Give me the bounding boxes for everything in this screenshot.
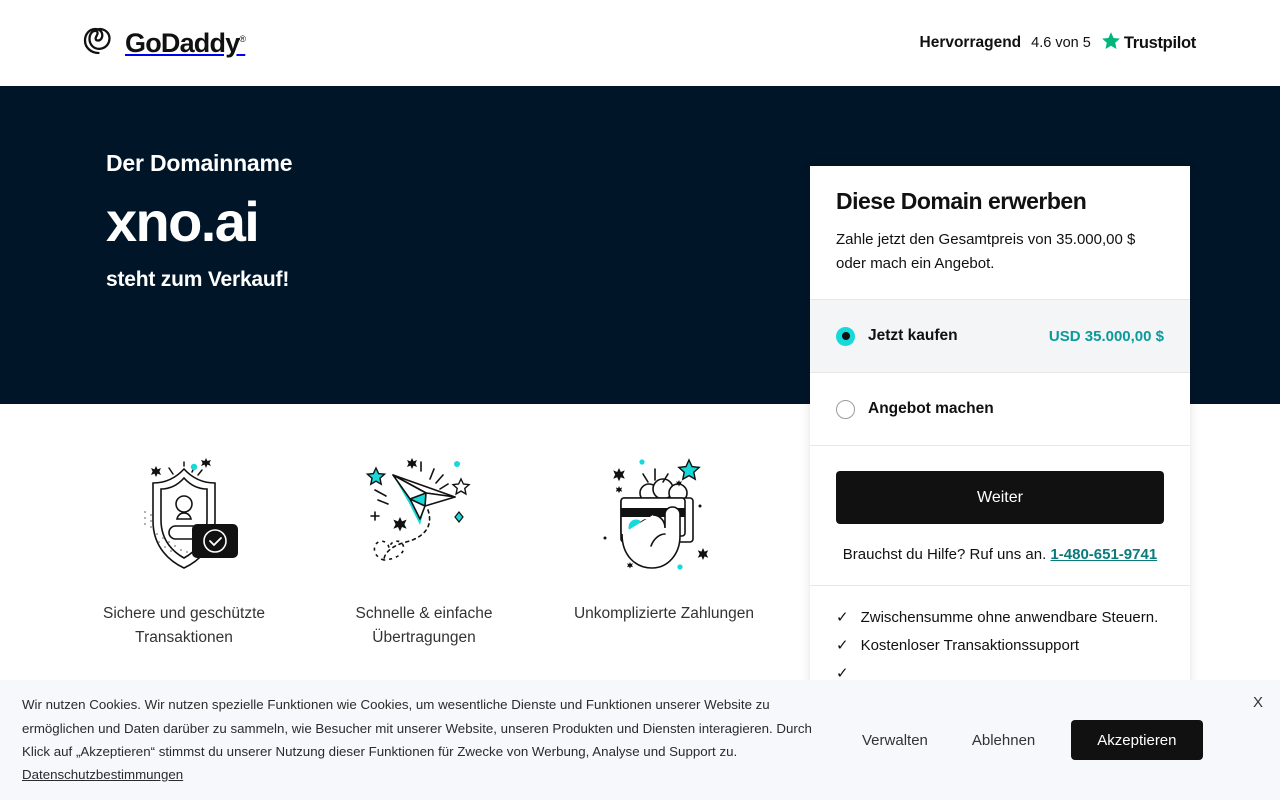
feature-fast-transfers: Schnelle & einfache Übertragungen <box>304 440 544 650</box>
accept-cookies-button[interactable]: Akzeptieren <box>1071 720 1202 760</box>
trustpilot-brand: Trustpilot <box>1101 31 1196 56</box>
cookie-body: Wir nutzen Cookies. Wir nutzen spezielle… <box>22 697 812 759</box>
feature-secure-transactions: Sichere und geschützte Transaktionen <box>64 440 304 650</box>
cookie-consent-banner: Wir nutzen Cookies. Wir nutzen spezielle… <box>0 680 1280 800</box>
continue-button[interactable]: Weiter <box>836 471 1164 524</box>
trustpilot-score: 4.6 von 5 <box>1031 35 1091 51</box>
option-buy-now-price: USD 35.000,00 $ <box>1049 328 1164 345</box>
benefit-label: Kostenloser Transaktionssupport <box>861 632 1079 660</box>
cta-block: Weiter Brauchst du Hilfe? Ruf uns an. 1-… <box>810 445 1190 585</box>
trademark-mark: ® <box>239 34 245 44</box>
radio-selected-icon[interactable] <box>836 327 855 346</box>
close-icon[interactable]: X <box>1253 694 1263 711</box>
benefit-item: ✓ Zwischensumme ohne anwendbare Steuern. <box>836 604 1164 632</box>
trustpilot-rating[interactable]: Hervorragend 4.6 von 5 Trustpilot <box>920 31 1197 56</box>
feature-caption: Sichere und geschützte Transaktionen <box>64 602 304 650</box>
site-header: GoDaddy® Hervorragend 4.6 von 5 Trustpil… <box>0 0 1280 86</box>
option-make-offer-label: Angebot machen <box>868 400 994 418</box>
star-icon <box>1101 31 1121 56</box>
help-line: Brauchst du Hilfe? Ruf uns an. 1-480-651… <box>836 546 1164 563</box>
manage-cookies-button[interactable]: Verwalten <box>840 722 950 759</box>
option-buy-now-label: Jetzt kaufen <box>868 327 958 345</box>
check-icon: ✓ <box>836 604 849 632</box>
help-phone-link[interactable]: 1-480-651-9741 <box>1050 546 1157 563</box>
feature-easy-payments: Unkomplizierte Zahlungen <box>544 440 784 650</box>
purchase-card-header: Diese Domain erwerben Zahle jetzt den Ge… <box>810 166 1190 299</box>
option-buy-now[interactable]: Jetzt kaufen USD 35.000,00 $ <box>810 299 1190 372</box>
benefit-label: Zwischensumme ohne anwendbare Steuern. <box>861 604 1159 632</box>
godaddy-logo-link[interactable]: GoDaddy® <box>82 27 245 60</box>
shield-secure-icon <box>64 440 304 580</box>
paper-plane-icon <box>304 440 544 580</box>
godaddy-heart-logo <box>82 27 116 60</box>
godaddy-wordmark: GoDaddy® <box>125 28 245 59</box>
verified-badge-icon <box>192 524 238 558</box>
cookie-actions: Verwalten Ablehnen Akzeptieren <box>840 720 1203 760</box>
help-text: Brauchst du Hilfe? Ruf uns an. <box>843 546 1046 563</box>
option-make-offer[interactable]: Angebot machen <box>810 372 1190 445</box>
cookie-consent-text: Wir nutzen Cookies. Wir nutzen spezielle… <box>22 693 832 786</box>
purchase-card-title: Diese Domain erwerben <box>836 188 1164 215</box>
purchase-card-description: Zahle jetzt den Gesamtpreis von 35.000,0… <box>836 228 1164 275</box>
trustpilot-label: Hervorragend <box>920 34 1022 52</box>
check-icon: ✓ <box>836 632 849 660</box>
radio-unselected-icon[interactable] <box>836 400 855 419</box>
decline-cookies-button[interactable]: Ablehnen <box>950 722 1057 759</box>
hand-credit-card-icon <box>544 440 784 580</box>
privacy-policy-link[interactable]: Datenschutzbestimmungen <box>22 767 183 782</box>
feature-caption: Schnelle & einfache Übertragungen <box>304 602 544 650</box>
purchase-card: Diese Domain erwerben Zahle jetzt den Ge… <box>810 166 1190 712</box>
feature-caption: Unkomplizierte Zahlungen <box>544 602 784 626</box>
benefit-item: ✓ Kostenloser Transaktionssupport <box>836 632 1164 660</box>
trustpilot-name: Trustpilot <box>1124 34 1196 53</box>
